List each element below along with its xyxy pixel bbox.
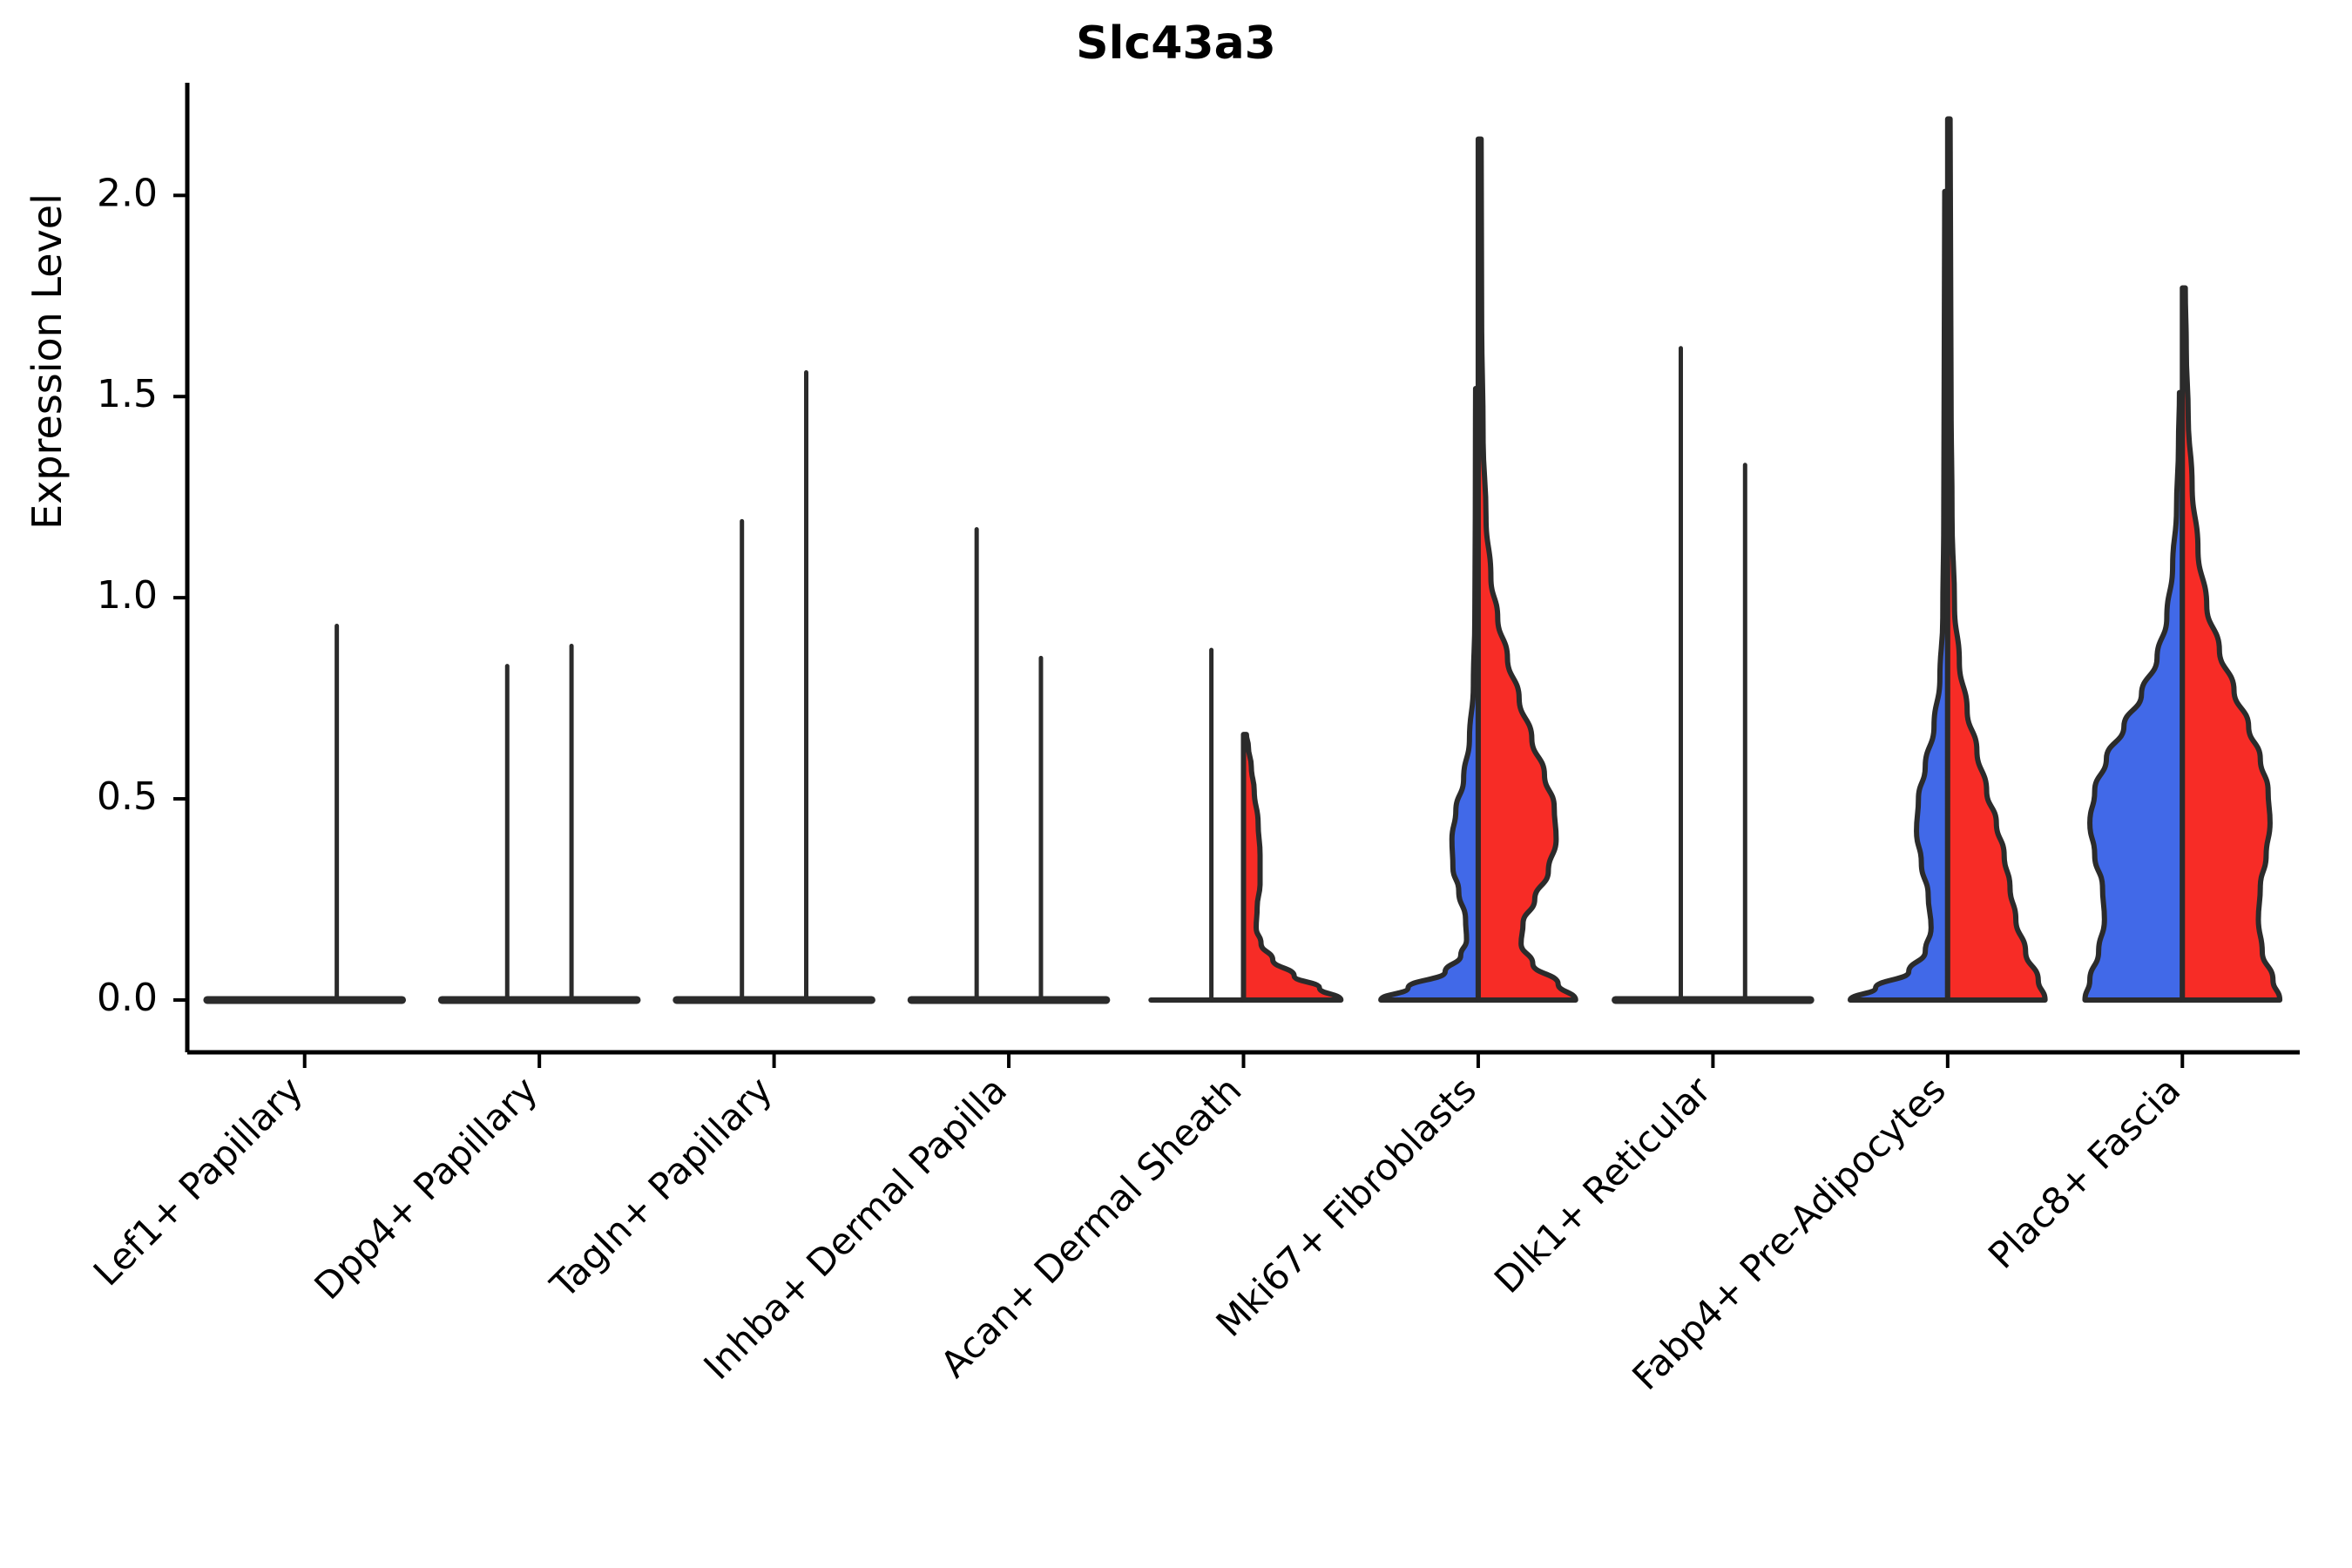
x-tick-label-2: TagIn+ Papillary: [542, 1068, 781, 1307]
y-tick-label: 0.0: [97, 976, 158, 1020]
violin-body: [2182, 288, 2280, 1000]
violin-group_b-7: [1948, 119, 2045, 1000]
x-tick-label-1: Dpp4+ Papillary: [306, 1068, 545, 1308]
violin-group_a-7: [1850, 192, 1948, 1000]
y-tick-label: 2.0: [97, 171, 158, 215]
x-tick-label-0: Lef1+ Papillary: [85, 1068, 311, 1294]
x-tick-label-6: Dlk1+ Reticular: [1486, 1068, 1720, 1301]
violin-group_b-5: [1478, 139, 1576, 1000]
violin-body: [1948, 119, 2045, 1000]
violin-body: [2085, 393, 2182, 1000]
violins-layer: [207, 119, 2280, 1000]
violin-body: [1850, 192, 1948, 1000]
violin-body: [1478, 139, 1576, 1000]
violin-group_b-8: [2182, 288, 2280, 1000]
chart-canvas: 0.00.51.01.52.0 Lef1+ PapillaryDpp4+ Pap…: [0, 0, 2352, 1568]
violin-group_a-8: [2085, 393, 2182, 1000]
violin-group_a-5: [1381, 389, 1478, 1000]
violin-body: [1381, 389, 1478, 1000]
violin-plot-figure: Slc43a3 Expression Level 0.00.51.01.52.0…: [0, 0, 2352, 1568]
x-tick-label-8: Plac8+ Fascia: [1980, 1068, 2188, 1276]
x-tick-labels: Lef1+ PapillaryDpp4+ PapillaryTagIn+ Pap…: [85, 1052, 2189, 1398]
y-tick-labels: 0.00.51.01.52.0: [97, 171, 187, 1020]
y-tick-label: 1.0: [97, 573, 158, 618]
y-tick-label: 0.5: [97, 774, 158, 819]
violin-group_b-4: [1244, 734, 1342, 1000]
violin-body: [1244, 734, 1342, 1000]
x-tick-label-5: Mki67+ Fibroblasts: [1208, 1068, 1484, 1344]
y-tick-label: 1.5: [97, 372, 158, 416]
